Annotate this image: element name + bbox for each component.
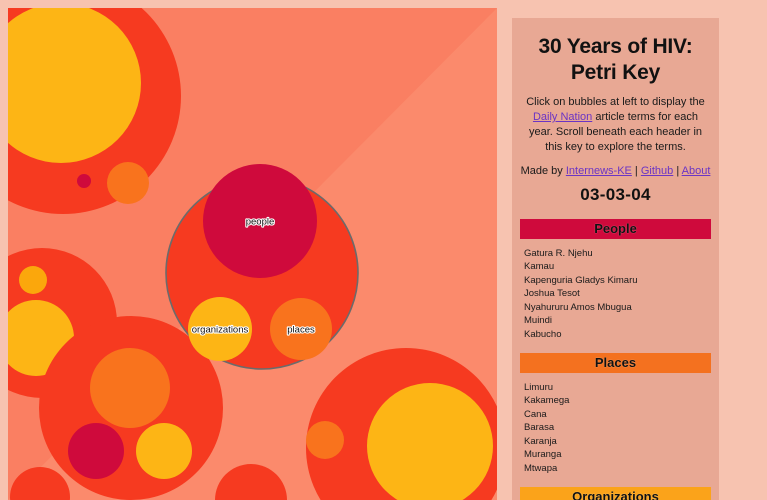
credit-prefix: Made by (521, 165, 566, 177)
credit-line: Made by Internews-KE | Github | About (520, 165, 711, 177)
list-item[interactable]: Kakamega (524, 394, 711, 407)
bubble[interactable] (136, 423, 192, 479)
page-title-line1: 30 Years of HIV: (520, 34, 711, 60)
bubble-label-places: places (287, 325, 315, 336)
bubble[interactable] (19, 266, 47, 294)
list-item[interactable]: Kabucho (524, 328, 711, 341)
selected-date-label: 03-03-04 (520, 185, 711, 205)
credit-separator-2: | (673, 165, 681, 177)
bubble[interactable] (107, 162, 149, 204)
list-item[interactable]: Cana (524, 408, 711, 421)
list-item[interactable]: Nyahururu Amos Mbugua (524, 301, 711, 314)
github-link[interactable]: Github (641, 165, 673, 177)
key-section-people: PeopleGatura R. NjehuKamauKapenguria Gla… (520, 219, 711, 341)
internews-ke-link[interactable]: Internews-KE (566, 165, 632, 177)
bubble[interactable] (77, 174, 91, 188)
bubble[interactable] (68, 423, 124, 479)
section-header-organizations[interactable]: Organizations (520, 487, 711, 500)
key-section-places: PlacesLimuruKakamegaCanaBarasaKaranjaMur… (520, 353, 711, 475)
section-list-people[interactable]: Gatura R. NjehuKamauKapenguria Gladys Ki… (520, 247, 711, 341)
list-item[interactable]: Kamau (524, 260, 711, 273)
list-item[interactable]: Joshua Tesot (524, 287, 711, 300)
intro-text-part1: Click on bubbles at left to display the (526, 96, 705, 108)
intro-paragraph: Click on bubbles at left to display the … (524, 95, 707, 154)
section-header-people[interactable]: People (520, 219, 711, 239)
list-item[interactable]: Muindi (524, 314, 711, 327)
key-section-organizations: OrganizationsMolo Martin NgugiDuncan Ndu… (520, 487, 711, 500)
list-item[interactable]: Kapenguria Gladys Kimaru (524, 274, 711, 287)
list-item[interactable]: Karanja (524, 435, 711, 448)
section-list-places[interactable]: LimuruKakamegaCanaBarasaKaranjaMurangaMt… (520, 381, 711, 475)
about-link[interactable]: About (682, 165, 711, 177)
page-title: 30 Years of HIV: Petri Key (520, 34, 711, 85)
daily-nation-link[interactable]: Daily Nation (533, 111, 592, 123)
app-root: peopleorganizationsplaces 30 Years of HI… (0, 0, 767, 500)
list-item[interactable]: Mtwapa (524, 462, 711, 475)
bubble-chart-svg[interactable]: peopleorganizationsplaces (8, 8, 497, 500)
bubble-chart-canvas[interactable]: peopleorganizationsplaces (8, 8, 497, 500)
list-item[interactable]: Barasa (524, 421, 711, 434)
bubble[interactable] (306, 421, 344, 459)
bubble[interactable] (90, 348, 170, 428)
bubble-label-people: people (246, 217, 275, 228)
bubble-label-organizations: organizations (192, 325, 249, 336)
petri-key-panel: 30 Years of HIV: Petri Key Click on bubb… (512, 18, 719, 500)
credit-separator-1: | (632, 165, 641, 177)
page-title-line2: Petri Key (520, 60, 711, 86)
list-item[interactable]: Gatura R. Njehu (524, 247, 711, 260)
list-item[interactable]: Limuru (524, 381, 711, 394)
section-header-places[interactable]: Places (520, 353, 711, 373)
list-item[interactable]: Muranga (524, 448, 711, 461)
key-sections: PeopleGatura R. NjehuKamauKapenguria Gla… (520, 219, 711, 500)
